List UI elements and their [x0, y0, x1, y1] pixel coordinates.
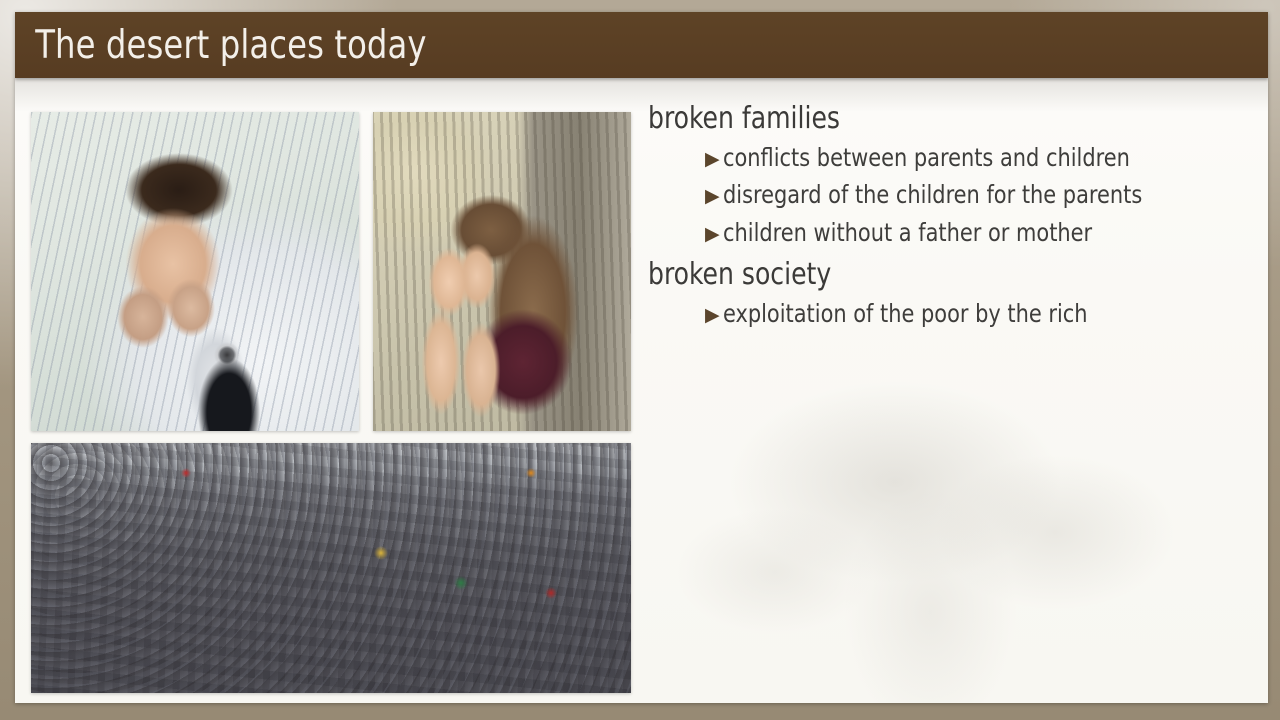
distressed-woman-photo: [373, 112, 631, 431]
triangle-bullet-icon: ▶: [705, 306, 720, 325]
list-item: ▶ children without a father or mother: [648, 220, 1248, 246]
winter-crowd-photo-image: [31, 443, 631, 693]
content-column: broken families ▶ conflicts between pare…: [648, 90, 1248, 327]
group-heading-broken-families: broken families: [648, 104, 1206, 134]
list-item-label: children without a father or mother: [723, 220, 1092, 246]
title-band: The desert places today: [15, 12, 1268, 78]
triangle-bullet-icon: ▶: [705, 225, 720, 244]
triangle-bullet-icon: ▶: [705, 187, 720, 206]
list-item: ▶ conflicts between parents and children: [648, 145, 1248, 171]
pensive-man-photo-image: [31, 112, 359, 431]
list-item-label: exploitation of the poor by the rich: [723, 301, 1088, 327]
triangle-bullet-icon: ▶: [705, 150, 720, 169]
list-item-label: conflicts between parents and children: [723, 145, 1130, 171]
winter-crowd-photo: [31, 443, 631, 693]
list-item: ▶ exploitation of the poor by the rich: [648, 301, 1248, 327]
slide-canvas: The desert places today broken families …: [15, 12, 1268, 703]
list-item: ▶ disregard of the children for the pare…: [648, 182, 1248, 208]
page-title: The desert places today: [15, 26, 427, 65]
group-heading-broken-society: broken society: [648, 260, 1206, 290]
distressed-woman-photo-image: [373, 112, 631, 431]
pensive-man-photo: [31, 112, 359, 431]
slide-frame: The desert places today broken families …: [0, 0, 1280, 720]
list-item-label: disregard of the children for the parent…: [723, 182, 1142, 208]
